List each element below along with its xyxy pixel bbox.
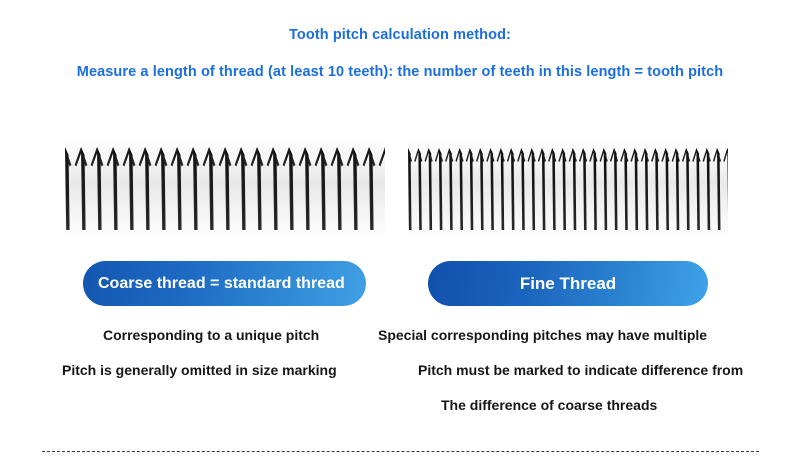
fine-thread-graphic — [408, 138, 728, 236]
fine-caption-line-3: The difference of coarse threads — [441, 396, 657, 414]
section-divider — [42, 451, 759, 452]
slide-root: Tooth pitch calculation method: Measure … — [0, 0, 800, 476]
coarse-thread-graphic — [65, 138, 385, 236]
coarse-caption-line-2: Pitch is generally omitted in size marki… — [62, 361, 337, 379]
heading-block: Tooth pitch calculation method: Measure … — [0, 0, 800, 82]
fine-thread-photo — [408, 138, 728, 236]
thread-images-row — [0, 138, 800, 236]
coarse-thread-button-label: Coarse thread = standard thread — [98, 275, 345, 293]
page-title: Tooth pitch calculation method: — [0, 25, 800, 45]
fine-caption-line-1: Special corresponding pitches may have m… — [378, 326, 707, 344]
captions-block: Corresponding to a unique pitch Pitch is… — [0, 326, 800, 426]
fine-caption-line-2: Pitch must be marked to indicate differe… — [418, 361, 743, 379]
coarse-caption-line-1: Corresponding to a unique pitch — [103, 326, 319, 344]
fine-thread-button-label: Fine Thread — [520, 274, 616, 294]
coarse-thread-button[interactable]: Coarse thread = standard thread — [83, 261, 366, 306]
coarse-thread-photo — [65, 138, 385, 236]
fine-thread-button[interactable]: Fine Thread — [428, 261, 708, 306]
page-subtitle: Measure a length of thread (at least 10 … — [0, 62, 800, 82]
